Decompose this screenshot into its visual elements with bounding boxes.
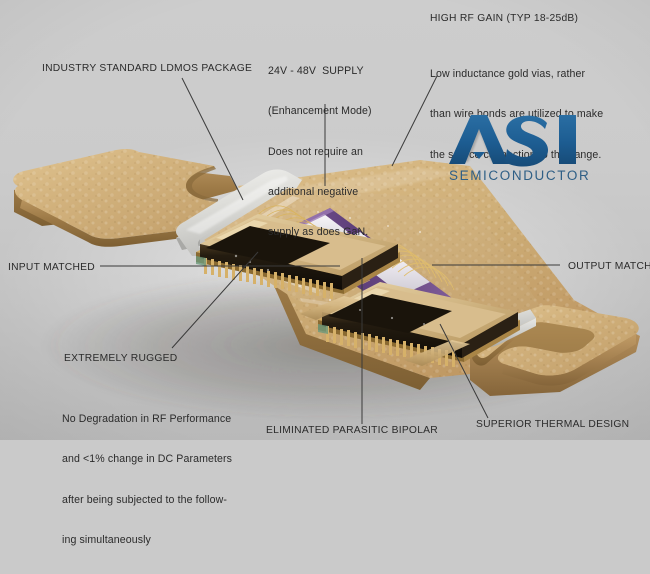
asi-logo: SEMICONDUCTOR — [443, 112, 593, 188]
label-high-rf-gain: HIGH RF GAIN (TYP 18-25dB) — [430, 12, 578, 25]
leader-ldmos-package — [182, 78, 243, 200]
figure-canvas: INDUSTRY STANDARD LDMOS PACKAGE 24V - 48… — [0, 0, 650, 440]
label-ruggedness-note: No Degradation in RF Performance and <1%… — [62, 386, 232, 574]
vias-line-1: Low inductance gold vias, rather — [430, 68, 603, 81]
label-eliminated-parasitic-bipolar: ELIMINATED PARASITIC BIPOLAR — [266, 424, 438, 437]
rugged-line-3: after being subjected to the follow- — [62, 494, 232, 507]
label-output-matched: OUTPUT MATCHED — [568, 260, 650, 273]
supply-line-5: supply as does GaN. — [268, 226, 372, 239]
leader-thermal-design — [440, 324, 488, 418]
rugged-line-1: No Degradation in RF Performance — [62, 413, 232, 426]
supply-line-3: Does not require an — [268, 146, 372, 159]
supply-line-1: 24V - 48V SUPPLY — [268, 65, 372, 78]
label-input-matched: INPUT MATCHED — [8, 261, 95, 274]
supply-line-2: (Enhancement Mode) — [268, 105, 372, 118]
logo-wordmark: SEMICONDUCTOR — [449, 168, 590, 183]
supply-line-4: additional negative — [268, 186, 372, 199]
rugged-line-4: ing simultaneously — [62, 534, 232, 547]
rugged-line-2: and <1% change in DC Parameters — [62, 453, 232, 466]
asi-logo-graphic: SEMICONDUCTOR — [443, 112, 593, 188]
label-extremely-rugged: EXTREMELY RUGGED — [64, 352, 177, 365]
label-industry-standard-ldmos-package: INDUSTRY STANDARD LDMOS PACKAGE — [42, 62, 252, 75]
label-supply-voltage-note: 24V - 48V SUPPLY (Enhancement Mode) Does… — [268, 38, 372, 267]
label-superior-thermal-design: SUPERIOR THERMAL DESIGN — [476, 418, 629, 431]
